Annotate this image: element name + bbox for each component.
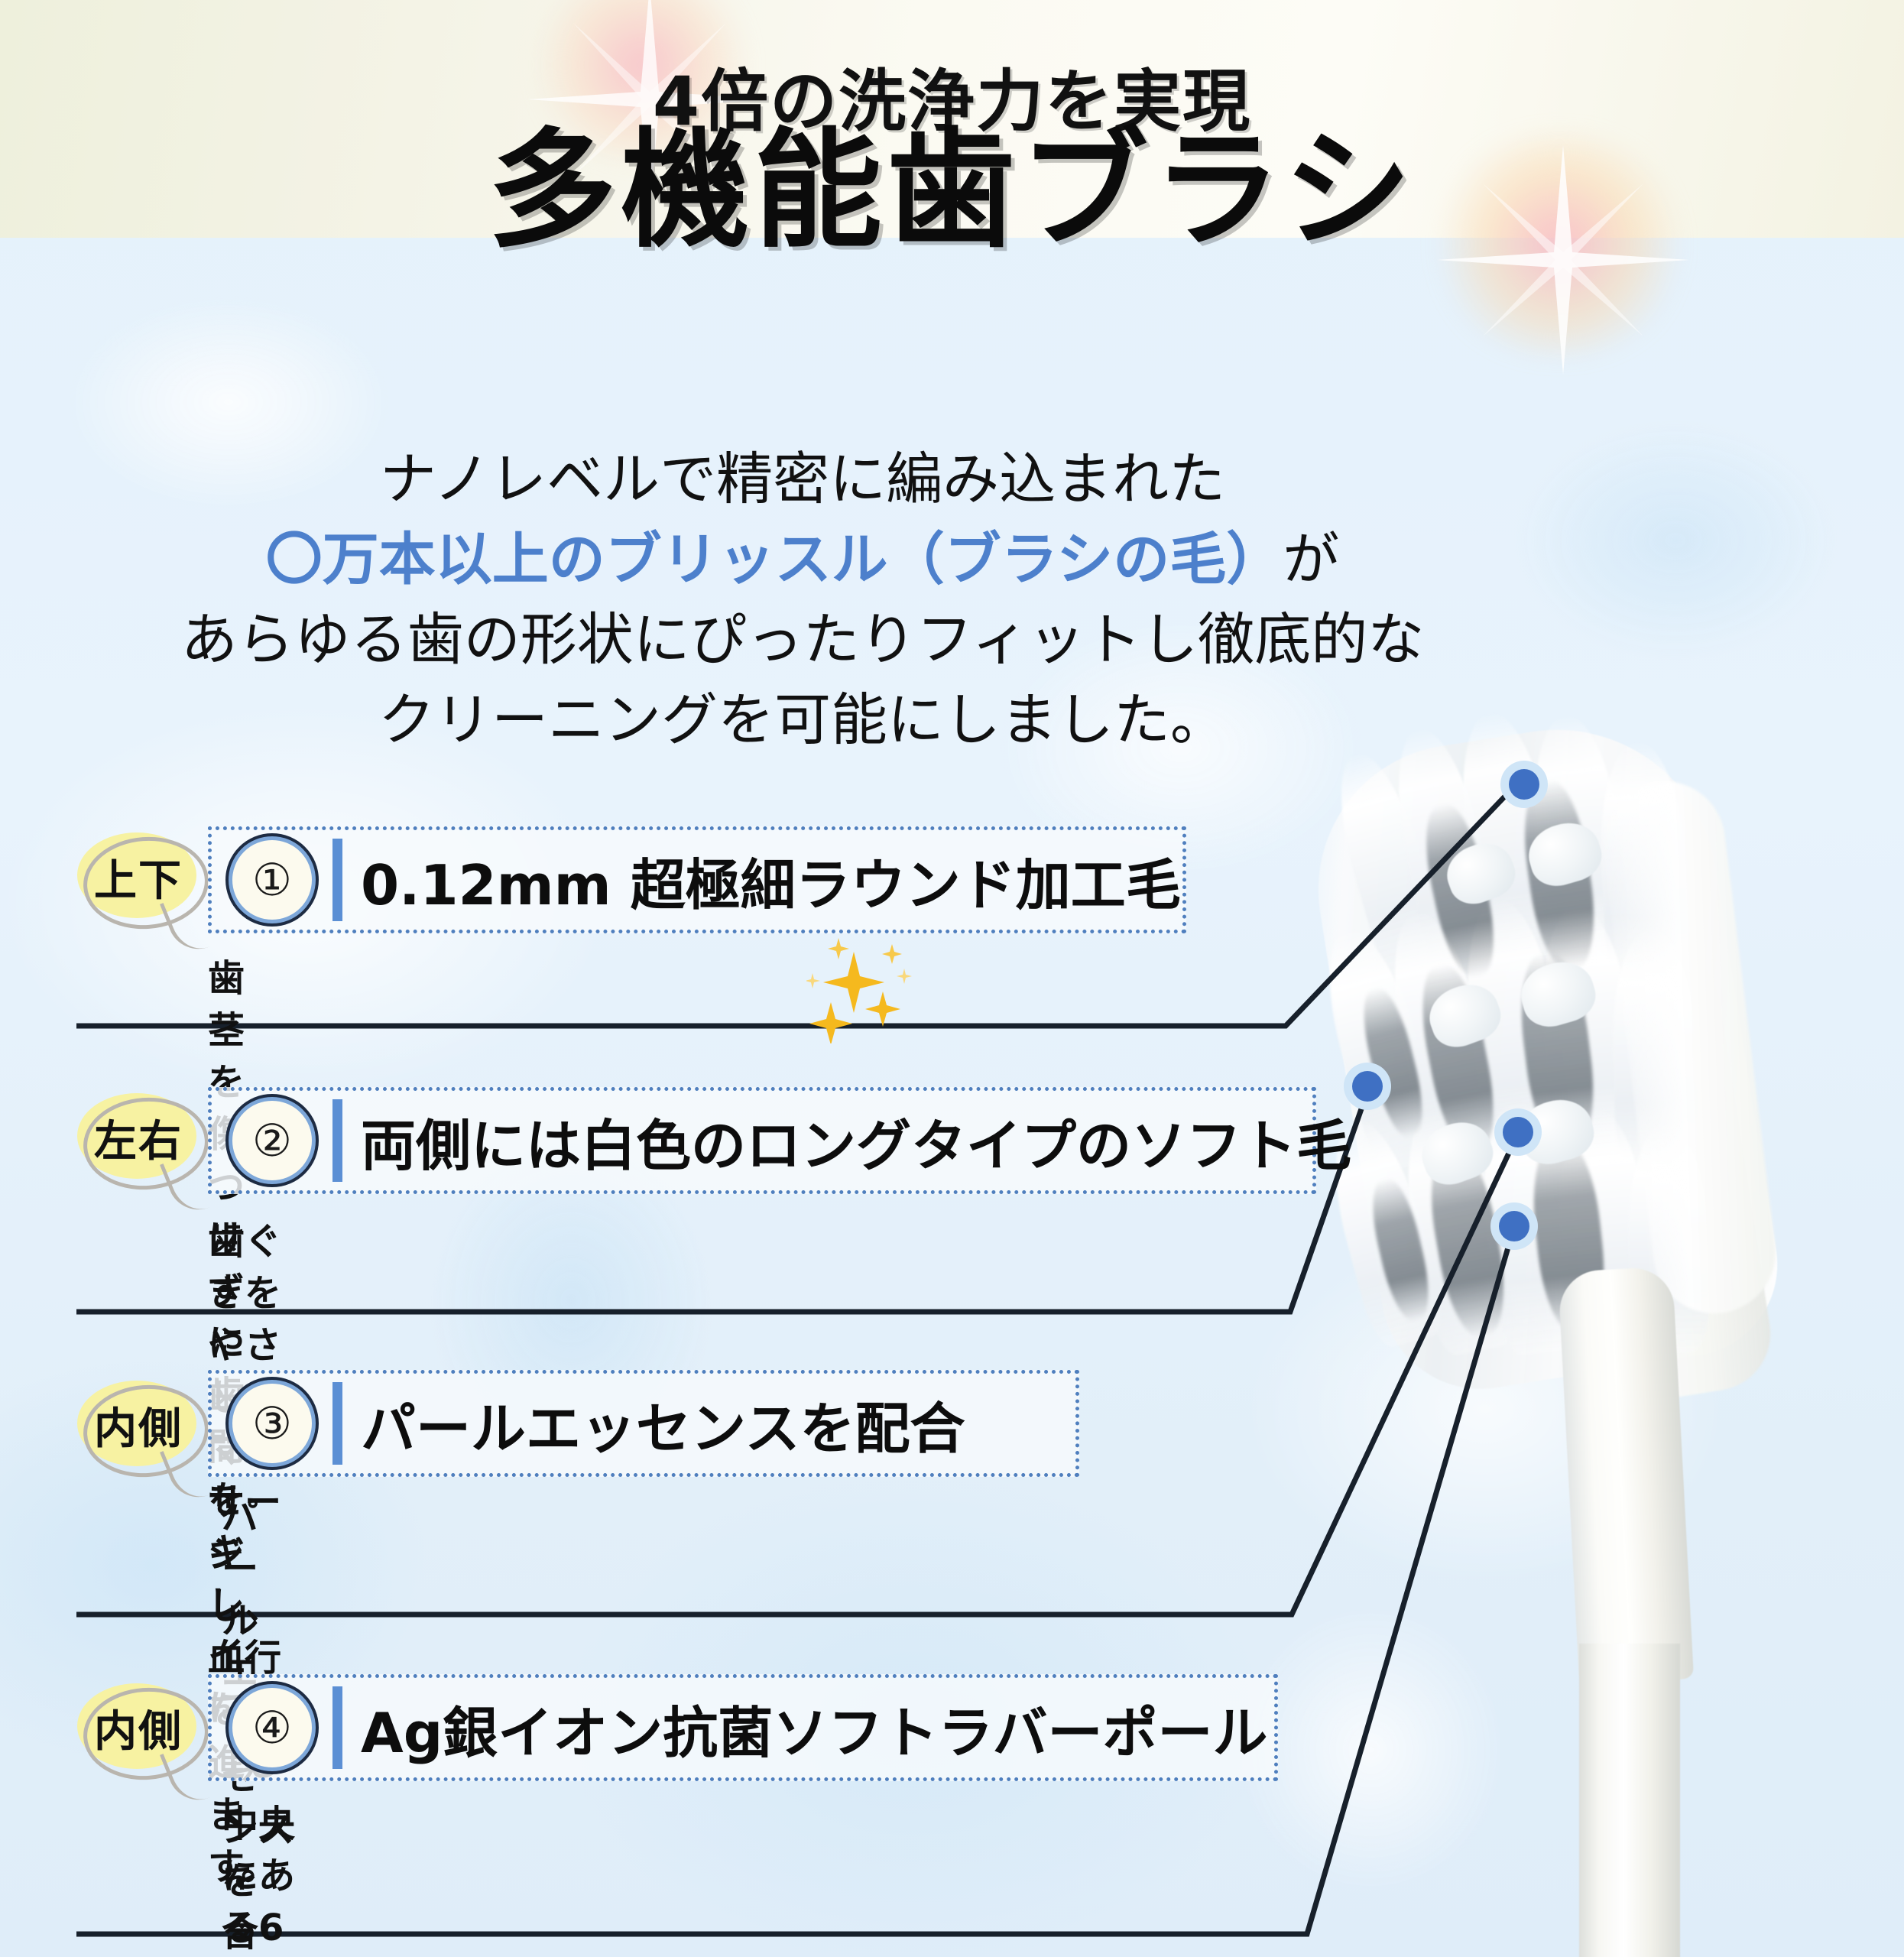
feature-1-position-badge: 上下 [73,828,204,926]
feature-4-title-box[interactable]: ④ Ag銀イオン抗菌ソフトラバーポール [208,1674,1278,1781]
lead-paragraph: ナノレベルで精密に編み込まれた 〇万本以上のブリッスル（ブラシの毛）が あらゆる… [0,440,1605,761]
dot-4-rubber-pole[interactable] [1490,1202,1538,1250]
page-title: 多機能歯ブラシ [0,126,1904,255]
feature-2-number: ② [229,1097,316,1184]
feature-2-badge-label: 左右 [94,1107,183,1169]
dot-1-upper-bristles[interactable] [1500,761,1548,808]
brush-handle [1579,1644,1680,1957]
feature-3-position-badge: 内側 [73,1376,204,1474]
lead-highlight: 〇万本以上のブリッスル（ブラシの毛） [266,527,1283,592]
feature-1-sparkle-icon [806,936,921,1043]
feature-1-accent-bar [332,839,342,921]
feature-1-title-box[interactable]: ① 0.12mm 超極細ラウンド加工毛 [208,826,1186,933]
feature-4-title: Ag銀イオン抗菌ソフトラバーポール [361,1688,1268,1768]
feature-2-title: 両側には白色のロングタイプのソフト毛 [361,1101,1351,1181]
lead-line-3: あらゆる歯の形状にぴったりフィットし徹底的な [0,600,1605,680]
feature-4-description: 中央にある6つの丸いブラシが 抗菌・美白効果で、口腔の健康を守ります。 [222,1798,295,1957]
feature-3-number: ③ [229,1380,316,1467]
feature-2-title-box[interactable]: ② 両側には白色のロングタイプのソフト毛 [208,1087,1316,1194]
feature-1-title: 0.12mm 超極細ラウンド加工毛 [361,840,1181,920]
feature-1-number: ① [229,836,316,923]
lead-line-2: 〇万本以上のブリッスル（ブラシの毛）が [0,520,1605,600]
feature-1-badge-label: 上下 [94,846,183,908]
feature-2-position-badge: 左右 [73,1089,204,1186]
feature-3-badge-label: 内側 [94,1394,183,1456]
infographic-page: 4倍の洗浄力を実現 多機能歯ブラシ ナノレベルで精密に編み込まれた 〇万本以上の… [0,0,1904,1957]
feature-4-accent-bar [332,1686,342,1769]
brush-neck [1558,1266,1694,1684]
toothbrush-illustration [1299,734,1904,1957]
lead-line-1: ナノレベルで精密に編み込まれた [0,440,1605,520]
feature-3-title: パールエッセンスを配合 [361,1384,965,1464]
lead-line-2-tail: が [1283,527,1339,592]
feature-4-position-badge: 内側 [73,1679,204,1777]
dot-3-pearl-bristles[interactable] [1494,1108,1542,1156]
feature-3-title-box[interactable]: ③ パールエッセンスを配合 [208,1370,1079,1477]
feature-2-accent-bar [332,1099,342,1182]
feature-4-number: ④ [229,1684,316,1771]
feature-3-accent-bar [332,1382,342,1465]
feature-4-badge-label: 内側 [94,1697,183,1759]
